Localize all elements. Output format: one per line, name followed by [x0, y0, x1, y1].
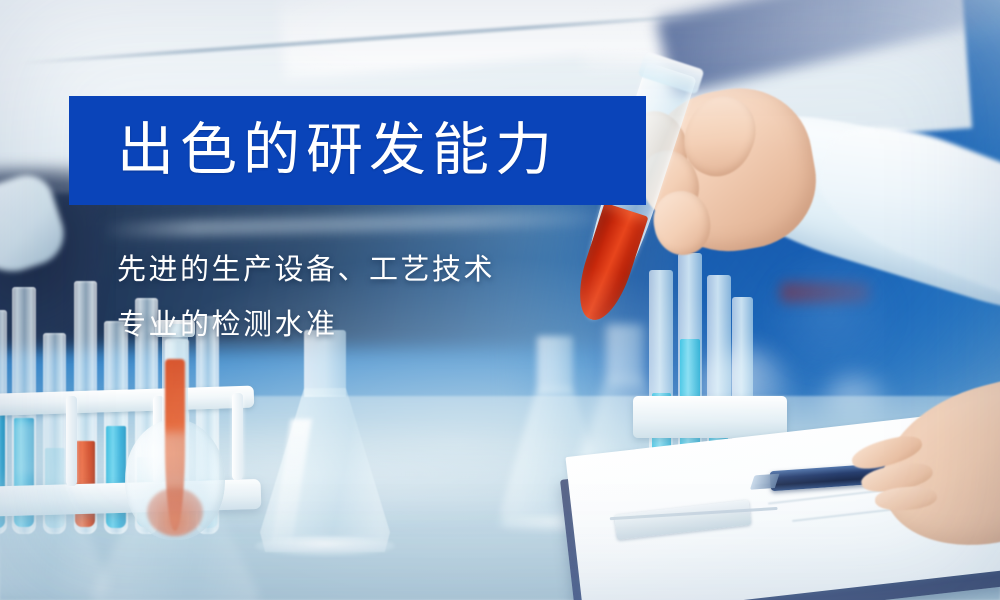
rack-holder-upper: [633, 396, 787, 437]
flask-neck: [11, 420, 59, 474]
flask-neck: [148, 432, 202, 486]
headline-banner: 出色的研发能力: [69, 96, 646, 205]
subtitle-line-2: 专业的检测水准: [117, 298, 495, 353]
page-title: 出色的研发能力: [117, 122, 558, 179]
pen-tip: [750, 474, 780, 490]
hand-on-clipboard: [880, 384, 1000, 540]
erlenmeyer-flask: [260, 330, 390, 552]
erlenmeyer-flask: [90, 432, 260, 600]
hero-banner: 出色的研发能力 先进的生产设备、工艺技术 专业的检测水准: [0, 0, 1000, 600]
flask-body: [90, 479, 260, 600]
subtitle-block: 先进的生产设备、工艺技术 专业的检测水准: [117, 243, 495, 353]
subtitle-line-1: 先进的生产设备、工艺技术: [117, 243, 495, 298]
hand-holding-test-tube: [630, 36, 1000, 372]
